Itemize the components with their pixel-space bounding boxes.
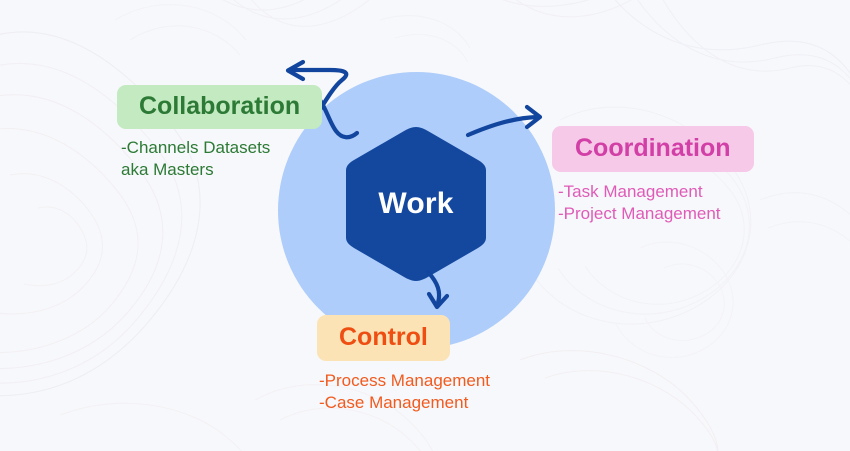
pillar-collaboration-bullets: -Channels Datasets aka Masters	[121, 137, 322, 182]
pillar-collaboration-bullet-0: -Channels Datasets	[121, 137, 322, 159]
pillar-control-bullet-0: -Process Management	[319, 370, 490, 392]
pillar-coordination-bullet-0: -Task Management	[558, 181, 754, 203]
pillar-coordination-bullets: -Task Management -Project Management	[558, 181, 754, 226]
pillar-collaboration[interactable]: Collaboration -Channels Datasets aka Mas…	[117, 85, 322, 182]
pillar-collaboration-badge[interactable]: Collaboration	[117, 85, 322, 129]
pillar-control-badge[interactable]: Control	[317, 315, 450, 361]
pillar-control-bullets: -Process Management -Case Management	[319, 370, 490, 415]
pillar-coordination-badge[interactable]: Coordination	[552, 126, 754, 172]
pillar-collaboration-bullet-1: aka Masters	[121, 159, 322, 181]
pillar-coordination[interactable]: Coordination -Task Management -Project M…	[552, 126, 754, 226]
pillar-control-bullet-1: -Case Management	[319, 392, 490, 414]
pillar-control[interactable]: Control -Process Management -Case Manage…	[317, 315, 490, 415]
diagram-canvas: Work Collaboration -Channel	[0, 0, 850, 451]
pillar-coordination-bullet-1: -Project Management	[558, 203, 754, 225]
work-hexagon	[341, 125, 491, 283]
